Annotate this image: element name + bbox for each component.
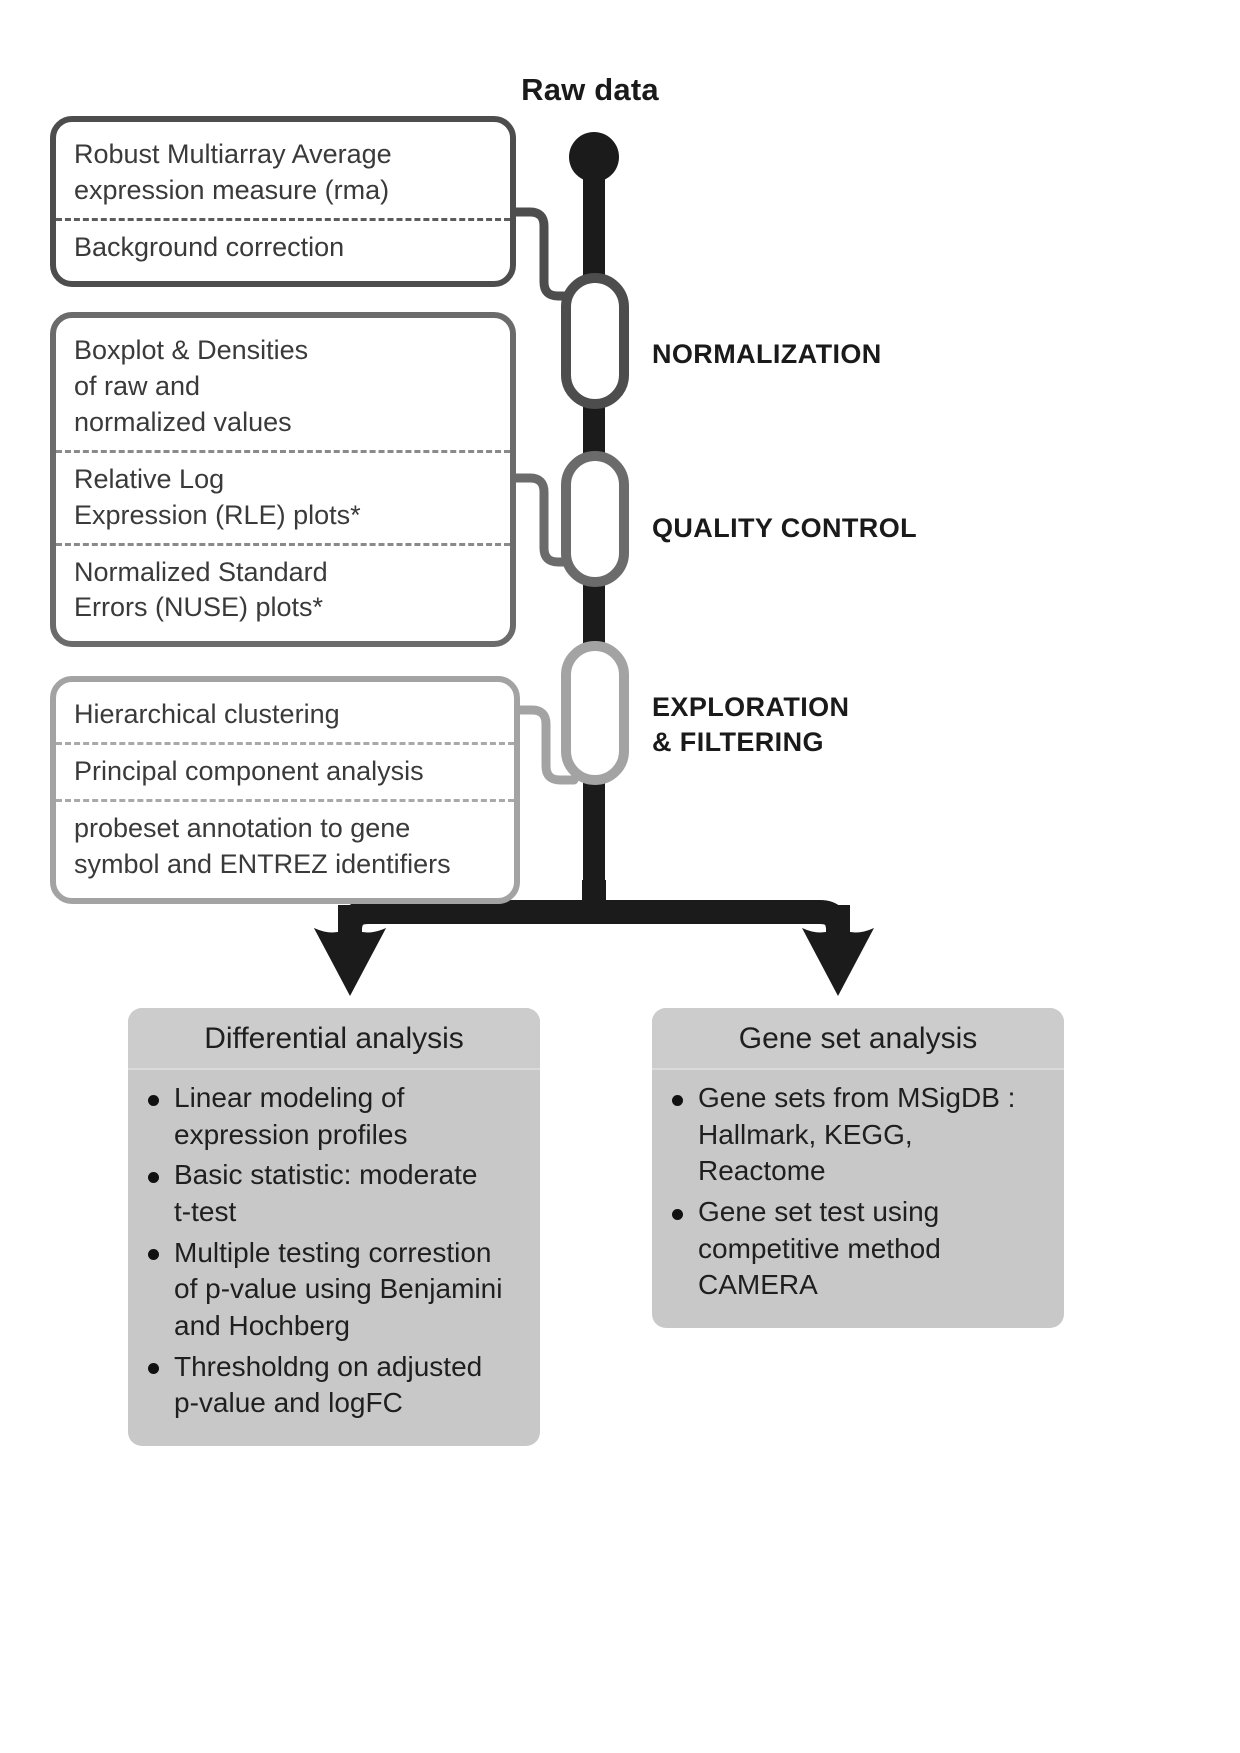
bullet-list: Linear modeling of expression profiles B…	[146, 1080, 522, 1422]
bullet-icon	[148, 1172, 159, 1183]
panel-row: Hierarchical clustering	[56, 688, 514, 742]
workflow-diagram: Raw data NORMALIZATION QUALITY CONTROL E…	[0, 0, 1240, 1753]
capsule-exploration	[566, 646, 624, 780]
card-title: Differential analysis	[128, 1008, 540, 1070]
list-item-text: Gene sets from MSigDB : Hallmark, KEGG, …	[698, 1082, 1015, 1186]
bullet-icon	[148, 1363, 159, 1374]
capsule-normalization	[566, 278, 624, 404]
panel-row: Relative Log Expression (RLE) plots*	[56, 450, 510, 543]
panel-row: Principal component analysis	[56, 742, 514, 799]
connector-normalization	[508, 212, 572, 296]
bullet-icon	[672, 1209, 683, 1220]
card-gene-set-analysis: Gene set analysis Gene sets from MSigDB …	[652, 1008, 1064, 1328]
list-item: Thresholdng on adjusted p-value and logF…	[146, 1349, 522, 1422]
panel-quality-control: Boxplot & Densities of raw and normalize…	[50, 312, 516, 647]
stage-label-normalization: NORMALIZATION	[652, 337, 882, 372]
list-item: Linear modeling of expression profiles	[146, 1080, 522, 1153]
raw-data-node	[569, 132, 619, 182]
arrowhead-differential	[314, 928, 386, 996]
panel-exploration-filtering: Hierarchical clustering Principal compon…	[50, 676, 520, 904]
stage-label-quality-control: QUALITY CONTROL	[652, 511, 917, 546]
list-item: Gene sets from MSigDB : Hallmark, KEGG, …	[670, 1080, 1046, 1190]
card-differential-analysis: Differential analysis Linear modeling of…	[128, 1008, 540, 1446]
list-item: Basic statistic: moderate t-test	[146, 1157, 522, 1230]
list-item-text: Gene set test using competitive method C…	[698, 1196, 941, 1300]
list-item-text: Thresholdng on adjusted p-value and logF…	[174, 1351, 482, 1419]
panel-row: Background correction	[56, 218, 510, 275]
arrowhead-geneset	[802, 928, 874, 996]
card-body: Linear modeling of expression profiles B…	[128, 1070, 540, 1446]
panel-normalization: Robust Multiarray Average expression mea…	[50, 116, 516, 287]
capsule-quality-control	[566, 456, 624, 582]
list-item: Gene set test using competitive method C…	[670, 1194, 1046, 1304]
list-item-text: Multiple testing correstion of p-value u…	[174, 1237, 502, 1341]
panel-row: Normalized Standard Errors (NUSE) plots*	[56, 543, 510, 636]
panel-row: probeset annotation to gene symbol and E…	[56, 799, 514, 892]
bullet-icon	[148, 1249, 159, 1260]
arrow-left	[314, 924, 386, 995]
bullet-icon	[148, 1095, 159, 1106]
connector-quality-control	[508, 478, 572, 562]
stage-label-exploration-filtering: EXPLORATION & FILTERING	[652, 690, 849, 760]
card-title: Gene set analysis	[652, 1008, 1064, 1070]
bullet-list: Gene sets from MSigDB : Hallmark, KEGG, …	[670, 1080, 1046, 1304]
page-title: Raw data	[430, 72, 750, 108]
card-body: Gene sets from MSigDB : Hallmark, KEGG, …	[652, 1070, 1064, 1328]
arrow-left-notch	[314, 926, 386, 933]
connector-exploration	[512, 710, 574, 780]
arrow-left-neck	[338, 905, 362, 933]
panel-row: Robust Multiarray Average expression mea…	[56, 128, 510, 218]
fork-bar	[350, 912, 838, 930]
panel-row: Boxplot & Densities of raw and normalize…	[56, 324, 510, 450]
bullet-icon	[672, 1095, 683, 1106]
list-item-text: Linear modeling of expression profiles	[174, 1082, 407, 1150]
list-item-text: Basic statistic: moderate t-test	[174, 1159, 477, 1227]
list-item: Multiple testing correstion of p-value u…	[146, 1235, 522, 1345]
arrow-right-notch	[802, 926, 874, 933]
arrow-right-neck	[826, 905, 850, 933]
